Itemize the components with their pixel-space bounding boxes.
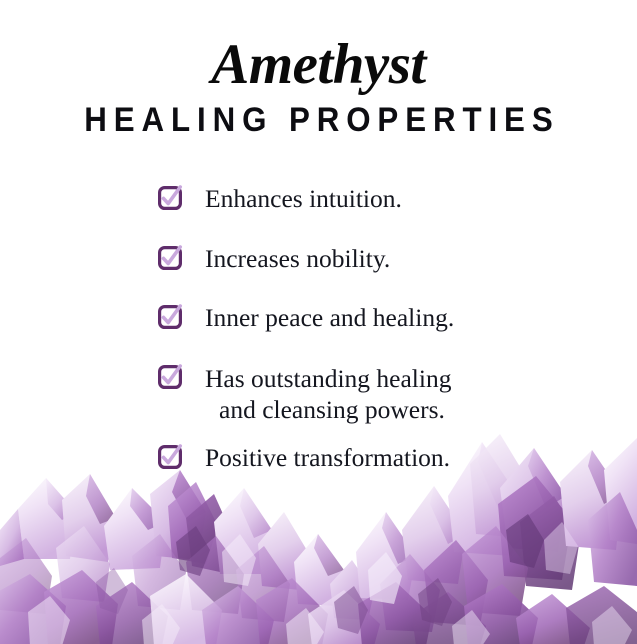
list-item: Positive transformation.: [158, 443, 578, 474]
list-item: Has outstanding healing and cleansing po…: [158, 363, 578, 426]
page-subtitle: HEALING PROPERTIES: [25, 94, 611, 137]
list-item-label-line2: and cleansing powers.: [205, 394, 578, 425]
list-item-label: Enhances intuition.: [205, 184, 402, 213]
list-item: Inner peace and healing.: [158, 303, 578, 334]
list-item-label: Inner peace and healing.: [205, 303, 454, 332]
list-item-label: Has outstanding healing: [205, 364, 451, 393]
healing-properties-list: Enhances intuition. Increases nobility. …: [158, 184, 578, 473]
page-title: Amethyst: [0, 0, 637, 94]
checkbox-checked-icon: [158, 365, 182, 389]
heading-block: Amethyst HEALING PROPERTIES: [0, 0, 637, 137]
checkbox-checked-icon: [158, 305, 182, 329]
poster-canvas: Amethyst HEALING PROPERTIES Enhances int…: [0, 0, 637, 644]
list-item-label: Increases nobility.: [205, 244, 390, 273]
list-item: Increases nobility.: [158, 244, 578, 275]
checkbox-checked-icon: [158, 246, 182, 270]
list-item-label: Positive transformation.: [205, 443, 450, 472]
checkbox-checked-icon: [158, 445, 182, 469]
list-item: Enhances intuition.: [158, 184, 578, 215]
checkbox-checked-icon: [158, 186, 182, 210]
